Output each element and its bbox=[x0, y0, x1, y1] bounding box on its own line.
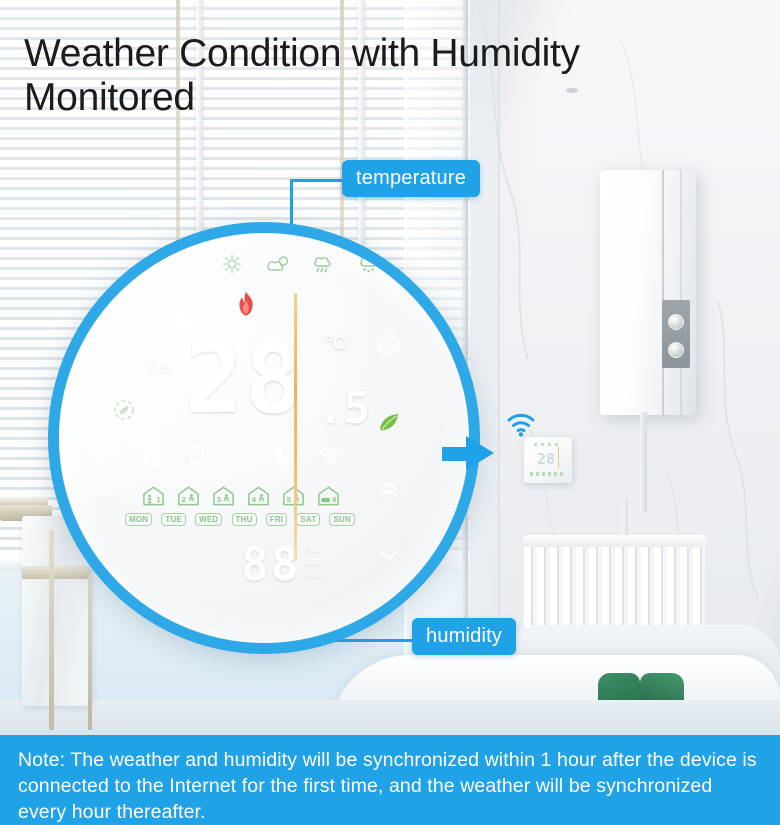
rainy-cloud-icon bbox=[312, 253, 338, 275]
period-2-icon: 2 bbox=[176, 485, 201, 507]
period-3-icon: 3 bbox=[211, 485, 236, 507]
program-period-row: 1 2 3 4 5 bbox=[141, 485, 341, 507]
snowy-cloud-icon bbox=[358, 253, 384, 275]
heater-dial-upper bbox=[668, 314, 684, 330]
device-temperature-value: 28 bbox=[537, 450, 555, 468]
humidity-unit-am: AM bbox=[305, 556, 326, 569]
sunny-icon bbox=[219, 253, 245, 275]
svg-text:5: 5 bbox=[287, 495, 292, 504]
indoor-temp-house-icon bbox=[145, 327, 169, 353]
humidity-unit-rh: %RH bbox=[305, 569, 326, 582]
weather-icon-row bbox=[219, 253, 384, 275]
chevron-down-icon[interactable] bbox=[377, 549, 401, 567]
temperature-slider[interactable] bbox=[294, 293, 297, 561]
svg-text:4: 4 bbox=[252, 495, 257, 504]
temperature-fraction: .5 bbox=[317, 383, 370, 434]
pointer-arrow-head bbox=[466, 436, 494, 470]
lock-icon bbox=[141, 443, 164, 466]
page-title: Weather Condition with Humidity Monitore… bbox=[24, 32, 744, 120]
heater-pipe bbox=[640, 412, 647, 512]
eco-circle-icon bbox=[113, 399, 135, 421]
set-label: Set bbox=[147, 359, 172, 377]
day-sun[interactable]: SUN bbox=[329, 513, 355, 526]
weekday-row: MON TUE WED THU FRI SAT SUN bbox=[125, 513, 355, 526]
flame-heating-icon bbox=[235, 291, 257, 317]
floor-strip bbox=[0, 700, 780, 735]
humidity-value: 88 bbox=[241, 541, 300, 587]
svg-text:3: 3 bbox=[217, 495, 221, 504]
callout-humidity: humidity bbox=[412, 618, 516, 655]
heater-dial-lower bbox=[668, 342, 684, 358]
wifi-icon bbox=[318, 443, 341, 466]
heater-seam bbox=[662, 170, 664, 415]
svg-text:6: 6 bbox=[332, 495, 336, 504]
temperature-value: 28 bbox=[185, 331, 305, 427]
temperature-unit: °C bbox=[325, 333, 346, 355]
period-4-icon: 4 bbox=[246, 485, 271, 507]
floor-heating-icon bbox=[145, 399, 171, 423]
svg-text:2: 2 bbox=[182, 495, 186, 504]
day-thu[interactable]: THU bbox=[232, 513, 257, 526]
day-wed[interactable]: WED bbox=[195, 513, 222, 526]
clock-icon[interactable] bbox=[377, 333, 401, 357]
day-sat[interactable]: SAT bbox=[296, 513, 320, 526]
towel-band bbox=[22, 566, 90, 579]
wifi-signal-icon bbox=[506, 412, 536, 438]
humidity-unit-labels: PM AM %RH bbox=[305, 543, 326, 582]
clock-icon bbox=[230, 443, 253, 466]
day-tue[interactable]: TUE bbox=[161, 513, 186, 526]
radiator-top-rail bbox=[522, 535, 707, 547]
heater-control-panel bbox=[662, 300, 690, 368]
device-slider bbox=[558, 447, 559, 469]
hand-manual-icon bbox=[185, 443, 208, 466]
device-weather-row bbox=[534, 443, 560, 446]
towel-rod bbox=[88, 575, 92, 730]
day-mon[interactable]: MON bbox=[125, 513, 152, 526]
callout-temperature: temperature bbox=[342, 160, 480, 197]
wall-thermostat-device[interactable]: 28 bbox=[524, 437, 572, 483]
period-6-icon: 6 bbox=[316, 485, 341, 507]
magnified-thermostat-display: 28 .5 °C Set bbox=[48, 222, 480, 654]
note-banner: Note: The weather and humidity will be s… bbox=[0, 735, 780, 825]
temperature-leader-horizontal bbox=[290, 179, 344, 182]
product-marketing-image: Weather Condition with Humidity Monitore… bbox=[0, 0, 780, 825]
heater-seam bbox=[680, 170, 682, 415]
leaf-eco-icon[interactable] bbox=[377, 411, 401, 433]
status-icon-row bbox=[141, 443, 341, 466]
device-weekday-row bbox=[530, 472, 566, 476]
day-fri[interactable]: FRI bbox=[266, 513, 288, 526]
humidity-unit-pm: PM bbox=[305, 543, 326, 556]
period-1-icon: 1 bbox=[141, 485, 166, 507]
svg-text:1: 1 bbox=[156, 495, 161, 504]
chevron-up-icon[interactable] bbox=[377, 481, 401, 499]
towel-rod bbox=[49, 530, 54, 730]
partly-cloudy-icon bbox=[265, 253, 291, 275]
